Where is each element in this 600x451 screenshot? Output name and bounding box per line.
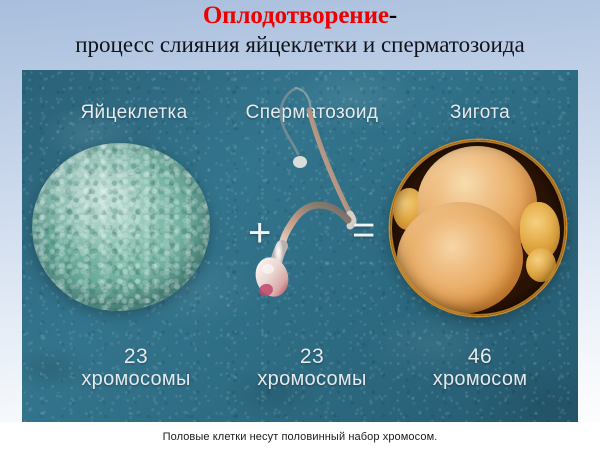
equals-operator: = — [352, 210, 375, 250]
chromosome-count-egg: 23 — [36, 345, 236, 368]
sperm-head-highlight — [262, 264, 274, 274]
column-label-egg: Яйцеклетка — [34, 102, 234, 124]
chromosome-count-zygote: 46 — [380, 345, 578, 368]
caption-text: Половые клетки несут половинный набор хр… — [163, 431, 438, 443]
sperm-midpiece — [282, 205, 348, 250]
title-block: Оплодотворение- процесс слияния яйцеклет… — [0, 0, 600, 70]
sperm-acrosome — [257, 282, 274, 298]
sperm-neck — [276, 246, 282, 266]
egg-cell-image — [32, 143, 210, 311]
caption-strip: Половые клетки несут половинный набор хр… — [0, 422, 600, 451]
sperm-head — [251, 253, 294, 301]
chromosome-label-egg: 23 хромосомы — [36, 345, 236, 391]
page-title: Оплодотворение- — [0, 2, 600, 29]
egg-cell-texture — [32, 143, 210, 311]
page-subtitle: процесс слияния яйцеклетки и сперматозои… — [0, 32, 600, 58]
sperm-tail-main — [309, 110, 350, 214]
plus-operator: + — [248, 213, 271, 253]
column-label-zygote: Зигота — [380, 102, 578, 124]
zygote-granule — [526, 248, 556, 282]
chromosome-label-zygote: 46 хромосом — [380, 345, 578, 391]
zygote-blastomere-bottom — [397, 202, 523, 314]
chromosome-word-zygote: хромосом — [380, 368, 578, 391]
fertilization-diagram-panel: Яйцеклетка Сперматозоид Зигота + — [22, 70, 578, 422]
page-title-term: Оплодотворение — [203, 2, 389, 29]
chromosome-word-egg: хромосомы — [36, 368, 236, 391]
sperm-droplet — [293, 156, 307, 168]
page-title-dash: - — [389, 2, 397, 29]
zygote-cell-image — [390, 140, 566, 316]
